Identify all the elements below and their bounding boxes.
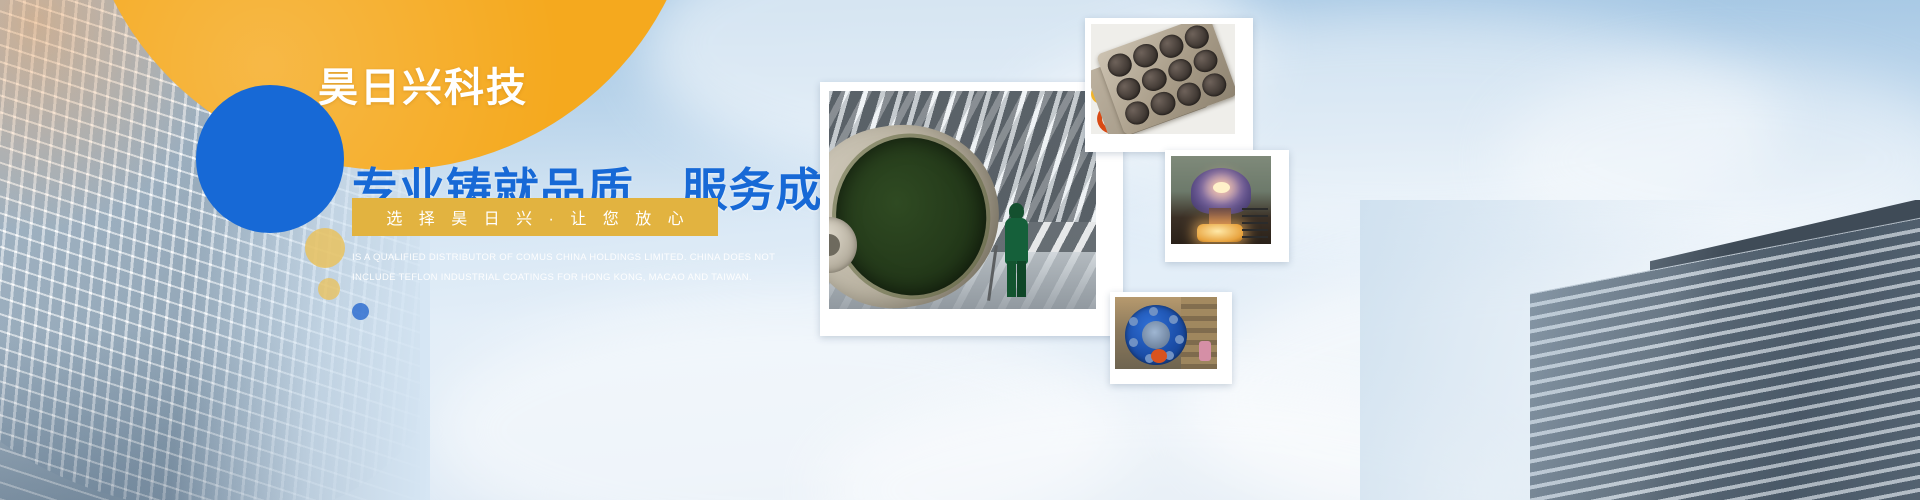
building-right-fade bbox=[1360, 200, 1920, 500]
blue-dot-small bbox=[352, 303, 369, 320]
yellow-dot-small bbox=[318, 278, 340, 300]
photo-factory-vessel-coating-image bbox=[829, 91, 1096, 309]
photo-non-stick-bakeware-tray bbox=[1085, 18, 1253, 152]
background-building-right bbox=[1360, 200, 1920, 500]
curing-glow-base bbox=[1197, 224, 1243, 242]
legal-line-2: INCLUDE TEFLON INDUSTRIAL COATINGS FOR H… bbox=[352, 268, 752, 288]
promo-banner: 昊日兴科技 专业铸就品质 服务成就辉煌 选 择 昊 日 兴 · 让 您 放 心 … bbox=[0, 0, 1920, 500]
photo-flange-image bbox=[1115, 297, 1217, 369]
legal-line-1: IS A QUALIFIED DISTRIBUTOR OF COMUS CHIN… bbox=[352, 248, 752, 268]
brand-name: 昊日兴科技 bbox=[318, 55, 528, 113]
photo-coating-curing-glow bbox=[1165, 150, 1289, 262]
photo-blue-flange-component bbox=[1110, 292, 1232, 384]
red-marker bbox=[1151, 349, 1167, 363]
photo-bakeware-image bbox=[1091, 24, 1235, 134]
photo-factory-vessel-coating bbox=[820, 82, 1123, 336]
background-chair bbox=[1242, 204, 1268, 238]
yellow-dot-large bbox=[305, 228, 345, 268]
photo-curing-image bbox=[1171, 156, 1271, 244]
legal-disclaimer: IS A QUALIFIED DISTRIBUTOR OF COMUS CHIN… bbox=[352, 248, 752, 288]
slogan-bar: 选 择 昊 日 兴 · 让 您 放 心 bbox=[352, 198, 718, 236]
bakeware-cups bbox=[1105, 24, 1230, 128]
worker-figure bbox=[1004, 203, 1029, 295]
slogan-text: 选 择 昊 日 兴 · 让 您 放 心 bbox=[380, 205, 689, 229]
hot-spot-highlight bbox=[1213, 182, 1230, 193]
workshop-worker bbox=[1199, 341, 1211, 361]
